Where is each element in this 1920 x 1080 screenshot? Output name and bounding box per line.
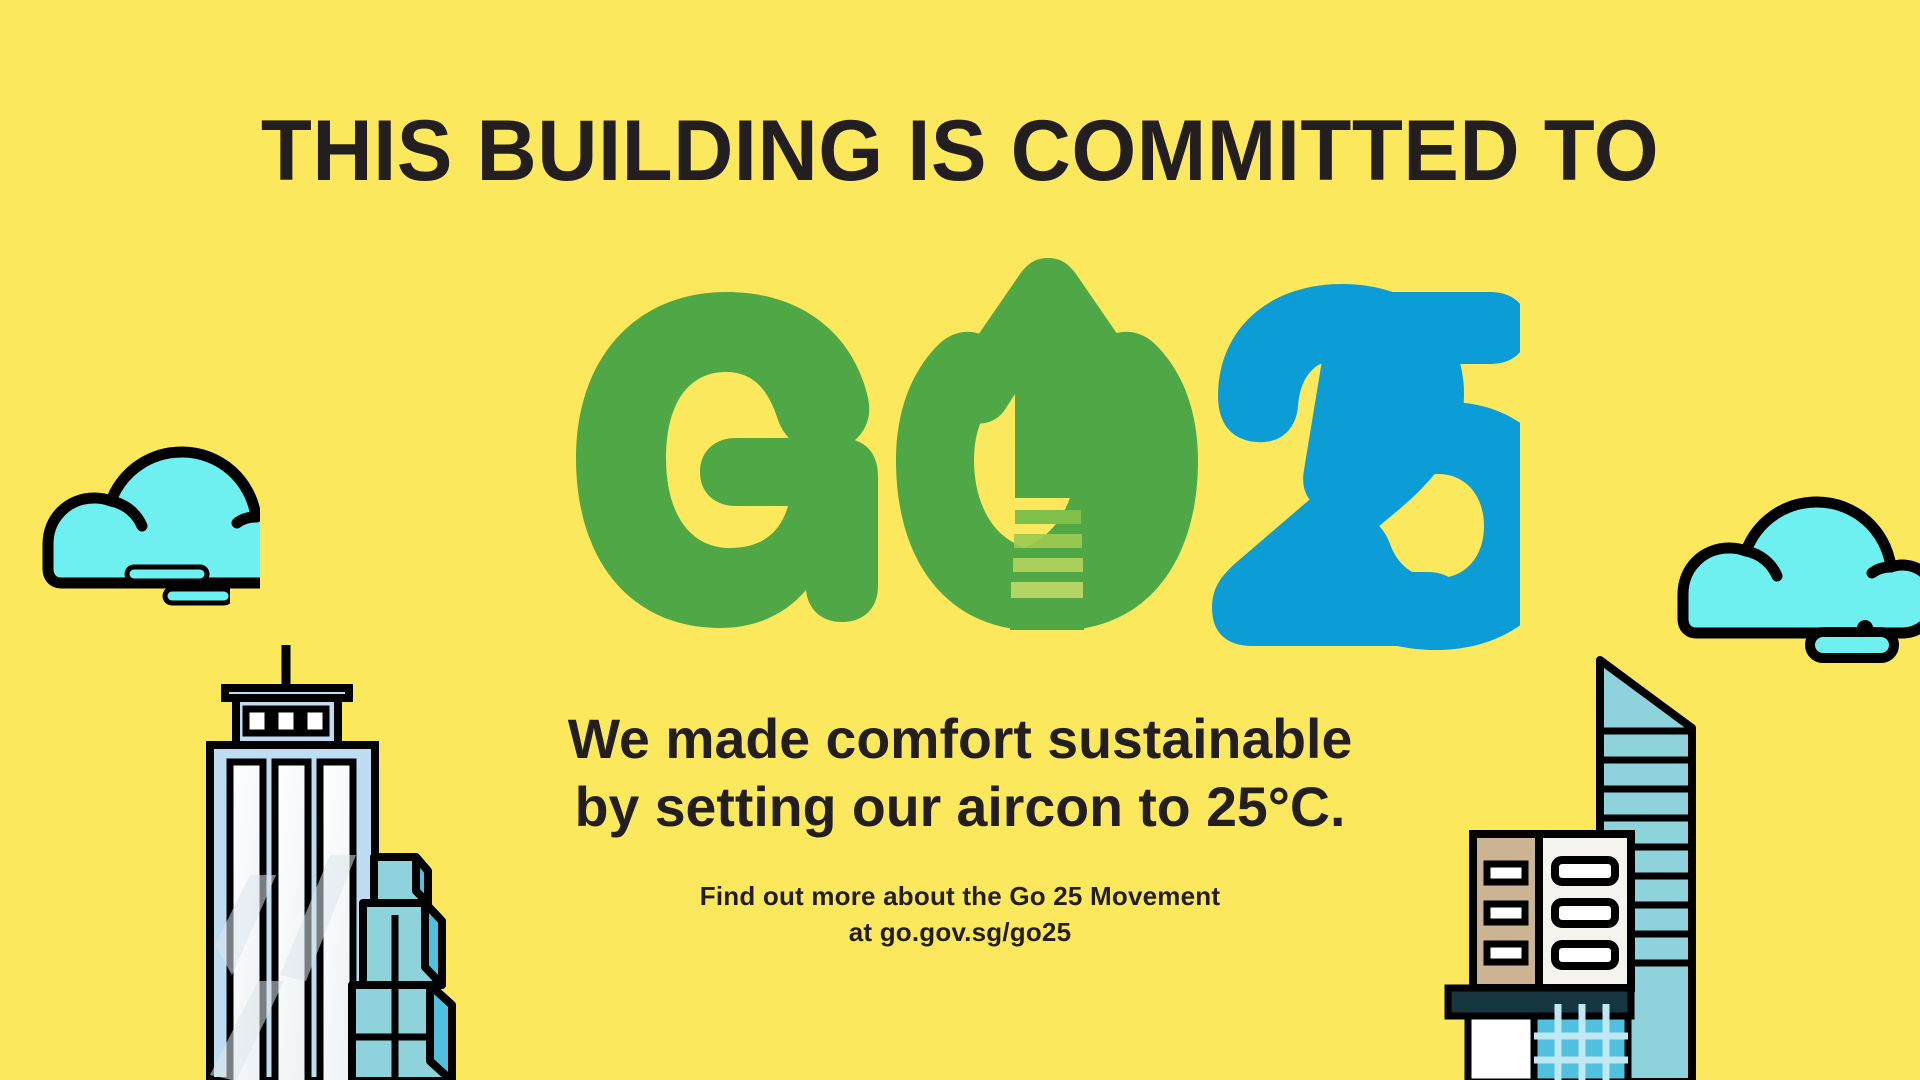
- cloud-wisp-icon: [120, 552, 230, 616]
- buildings-left-graphic: [180, 645, 540, 1080]
- cloud-wisp-left-graphic: [120, 552, 230, 616]
- logo-number-5: [1303, 292, 1520, 650]
- cloud-wisp-icon: [1778, 610, 1908, 668]
- poster-canvas: THIS BUILDING IS COMMITTED TO: [0, 0, 1920, 1080]
- page-title: THIS BUILDING IS COMMITTED TO: [29, 108, 1891, 194]
- go25-logo-graphic: [400, 248, 1520, 668]
- cloud-wisp-right-graphic: [1778, 610, 1908, 668]
- logo-letter-g: [576, 292, 878, 628]
- buildings-right-graphic: [1440, 632, 1750, 1080]
- go25-logo: [400, 248, 1520, 668]
- skyline-buildings-left: [180, 645, 540, 1080]
- skyline-buildings-right: [1440, 632, 1750, 1080]
